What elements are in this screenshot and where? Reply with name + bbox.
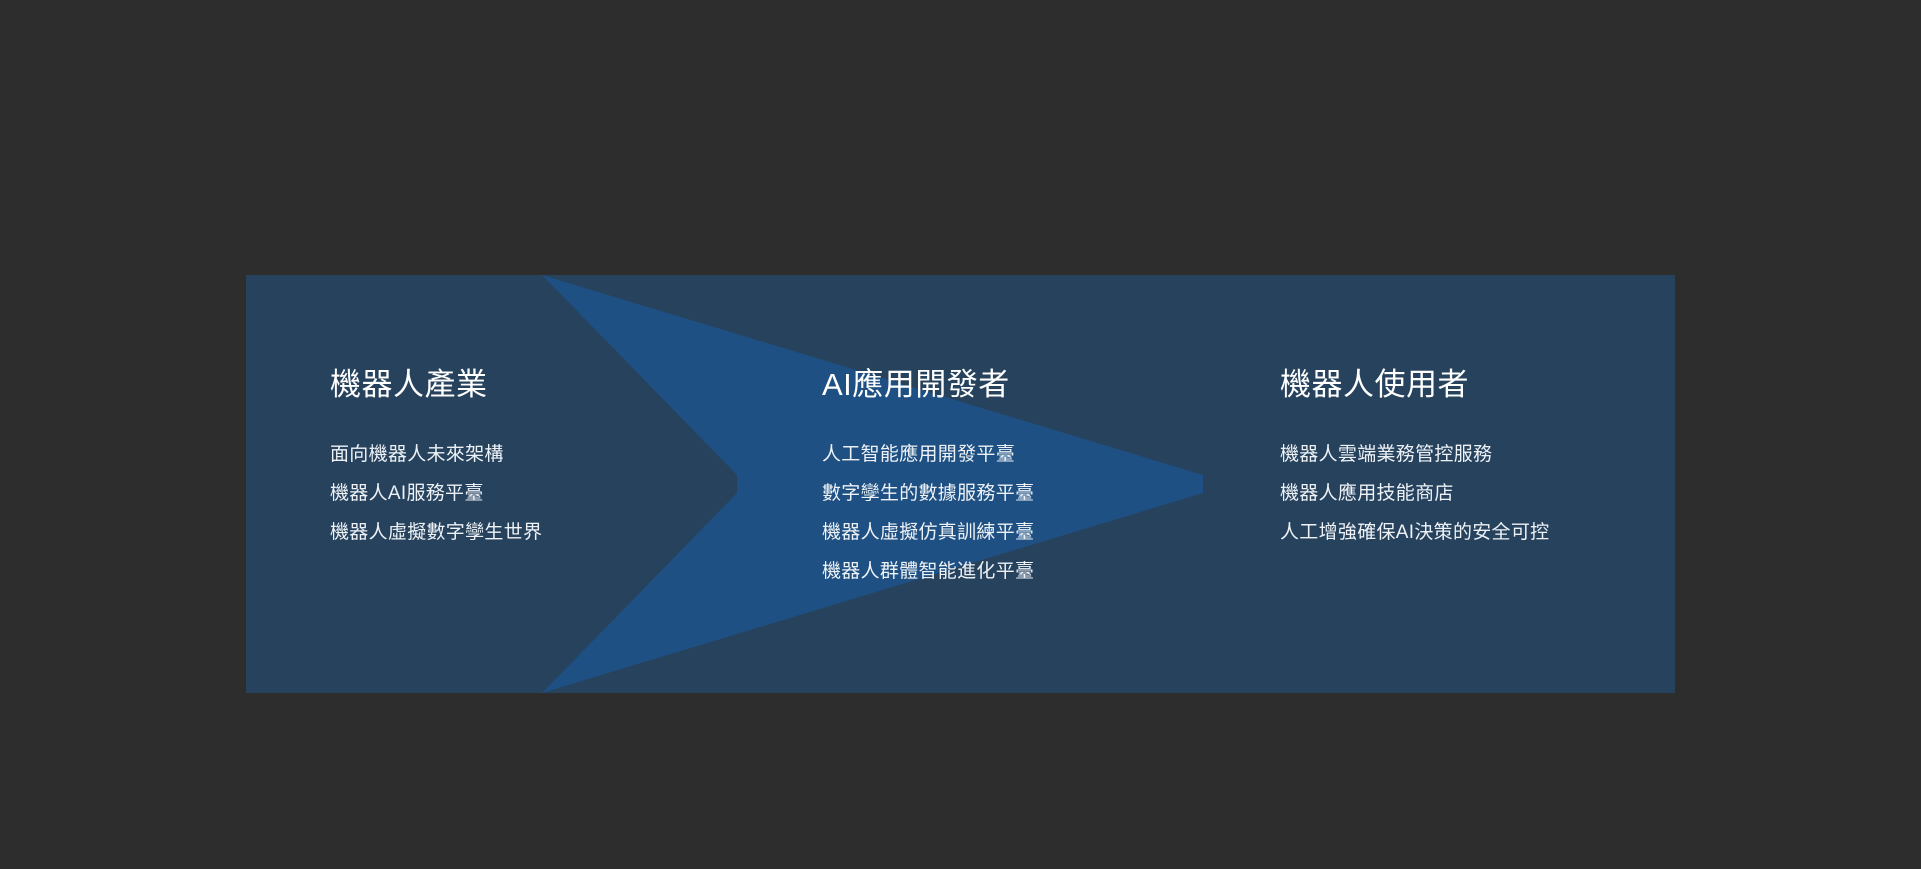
column-title-robot-industry: 機器人產業 — [330, 369, 488, 400]
list-item: 人工增強確保AI決策的安全可控 — [1280, 513, 1549, 552]
list-item: 人工智能應用開發平臺 — [822, 435, 1034, 474]
list-item: 機器人群體智能進化平臺 — [822, 552, 1034, 591]
column-items-robot-user: 機器人雲端業務管控服務 機器人應用技能商店 人工增強確保AI決策的安全可控 — [1280, 435, 1549, 552]
list-item: 機器人雲端業務管控服務 — [1280, 435, 1549, 474]
list-item: 機器人應用技能商店 — [1280, 474, 1549, 513]
column-title-ai-app-developer: AI應用開發者 — [822, 369, 1010, 400]
list-item: 數字孿生的數據服務平臺 — [822, 474, 1034, 513]
column-items-robot-industry: 面向機器人未來架構 機器人AI服務平臺 機器人虛擬數字孿生世界 — [330, 435, 542, 552]
column-items-ai-app-developer: 人工智能應用開發平臺 數字孿生的數據服務平臺 機器人虛擬仿真訓練平臺 機器人群體… — [822, 435, 1034, 591]
column-title-robot-user: 機器人使用者 — [1280, 369, 1469, 400]
list-item: 機器人虛擬數字孿生世界 — [330, 513, 542, 552]
chevron-banner: 機器人產業 面向機器人未來架構 機器人AI服務平臺 機器人虛擬數字孿生世界 AI… — [246, 275, 1675, 693]
list-item: 機器人虛擬仿真訓練平臺 — [822, 513, 1034, 552]
list-item: 機器人AI服務平臺 — [330, 474, 542, 513]
slide-canvas: 機器人產業 面向機器人未來架構 機器人AI服務平臺 機器人虛擬數字孿生世界 AI… — [0, 0, 1921, 869]
list-item: 面向機器人未來架構 — [330, 435, 542, 474]
